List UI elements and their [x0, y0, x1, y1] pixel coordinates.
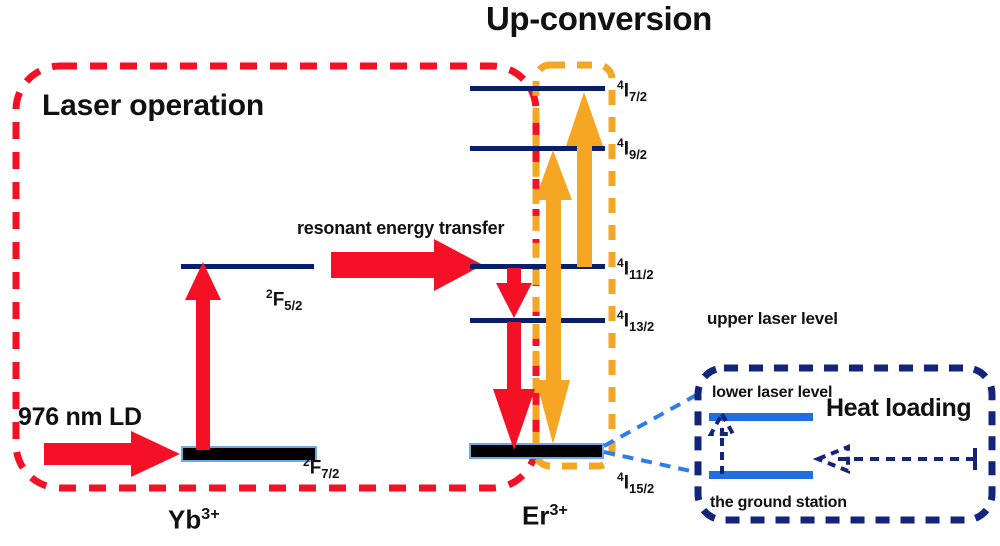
- page-title: Up-conversion: [486, 2, 712, 35]
- er-level-4I15_2-bar: [470, 444, 603, 458]
- er-level-label-4I13_2: 4I13/2: [617, 308, 654, 334]
- laser-operation-region-label: Laser operation: [42, 91, 264, 121]
- yb-ion-charge: 3+: [201, 505, 219, 523]
- pump-source-label: 976 nm LD: [18, 405, 142, 430]
- up-conversion-arrow-esa-2: [566, 92, 603, 267]
- heat-loading-label: Heat loading: [826, 396, 971, 421]
- resonant-energy-transfer-label: resonant energy transfer: [297, 219, 504, 237]
- energy-level-diagram: Up-conversion Laser operation resonant e…: [0, 0, 1000, 546]
- diagram-vector-layer: [0, 0, 1000, 546]
- yb-level-label-2F5_2: 2F5/2: [266, 287, 302, 313]
- er-level-label-4I15_2: 4I15/2: [617, 470, 654, 496]
- inset-ground-station-level-line: [709, 471, 813, 479]
- term-multiplicity: 4: [617, 78, 624, 92]
- er-ion-symbol: Er: [522, 501, 549, 531]
- yb-ion-symbol: Yb: [168, 505, 201, 535]
- up-conversion-arrow-decay: [536, 269, 570, 444]
- term-multiplicity: 4: [617, 256, 624, 270]
- er-level-label-4I7_2: 4I7/2: [617, 78, 647, 104]
- er-laser-transition-arrow: [493, 322, 535, 450]
- term-j: 9/2: [629, 147, 647, 162]
- term-multiplicity: 2: [266, 287, 273, 301]
- inset-connector-lines: [604, 393, 700, 473]
- inset-level-lines: [709, 413, 813, 479]
- term-multiplicity: 4: [617, 136, 624, 150]
- er-level-4I7_2-line: [470, 86, 605, 91]
- pump-source-arrow: [44, 431, 180, 477]
- yb-pump-absorption-arrow: [185, 262, 221, 450]
- term-letter: F: [273, 289, 285, 310]
- term-j: 7/2: [629, 89, 647, 104]
- term-j: 11/2: [629, 267, 654, 282]
- term-j: 15/2: [629, 481, 654, 496]
- term-j: 13/2: [629, 319, 654, 334]
- term-multiplicity: 2: [303, 455, 310, 469]
- ground-station-label: the ground station: [710, 495, 847, 511]
- upper-laser-level-label: upper laser level: [707, 310, 838, 327]
- er-level-4I13_2-line: [470, 318, 605, 323]
- er-level-label-4I11_2: 4I11/2: [617, 256, 654, 282]
- resonant-energy-transfer-arrow: [331, 239, 483, 291]
- inset-heat-loading-arrow: [818, 447, 975, 471]
- er-relaxation-arrow-short: [496, 268, 532, 318]
- inset-connector-upper: [604, 393, 700, 446]
- er-level-label-4I9_2: 4I9/2: [617, 136, 647, 162]
- term-j: 7/2: [321, 466, 339, 481]
- yb-level-label-2F7_2: 2F7/2: [303, 455, 339, 481]
- term-multiplicity: 4: [617, 308, 624, 322]
- lower-laser-level-label: lower laser level: [712, 385, 832, 401]
- inset-phonon-up-arrow: [711, 414, 733, 474]
- term-letter: F: [310, 457, 322, 478]
- yb-ion-label: Yb3+: [168, 506, 220, 533]
- term-j: 5/2: [284, 298, 302, 313]
- er-ion-label: Er3+: [522, 502, 568, 529]
- er-ion-charge: 3+: [549, 501, 567, 519]
- term-multiplicity: 4: [617, 470, 624, 484]
